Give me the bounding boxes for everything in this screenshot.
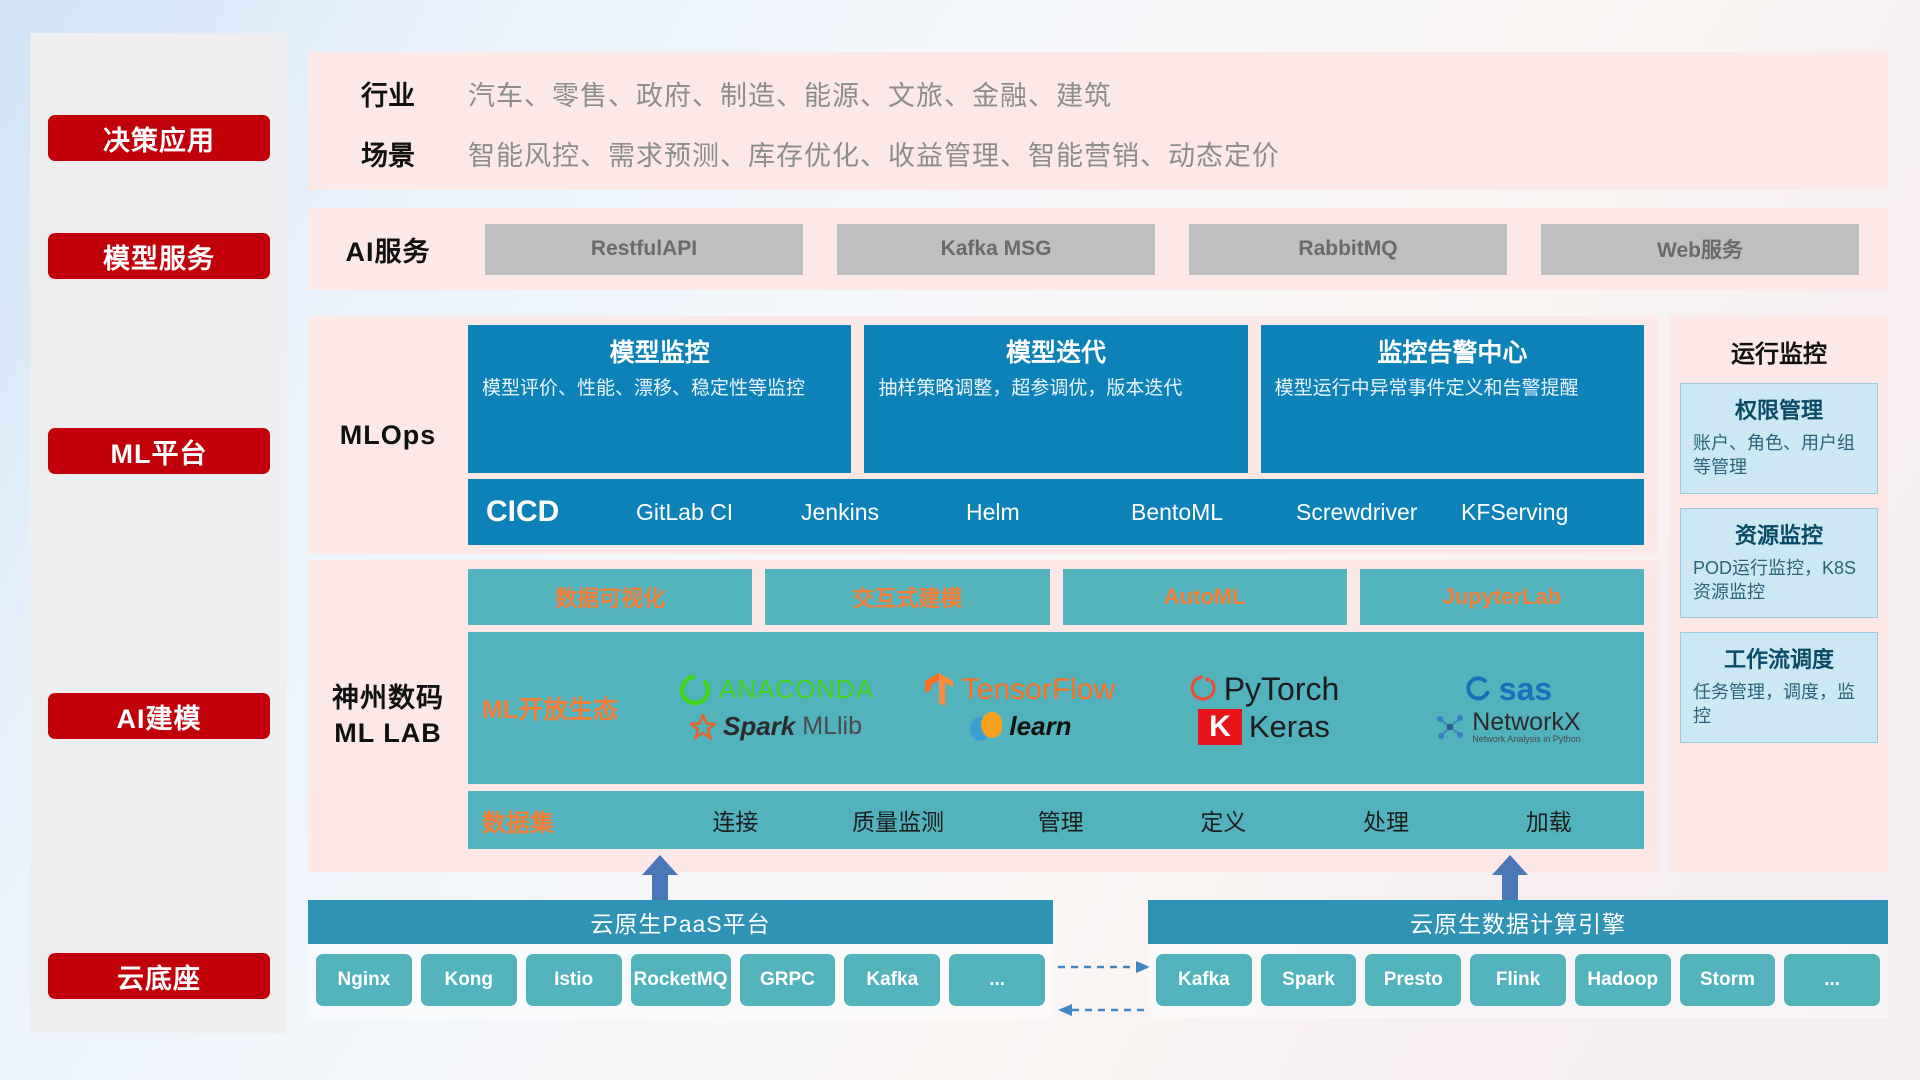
cloud-chip-nginx[interactable]: Nginx <box>316 954 412 1006</box>
cloud-chip-kong[interactable]: Kong <box>421 954 517 1006</box>
anaconda-ring-icon <box>678 673 712 707</box>
cloud-chip-storm[interactable]: Storm <box>1680 954 1776 1006</box>
cloud-chip-kafka[interactable]: Kafka <box>1156 954 1252 1006</box>
logo-text: sas <box>1499 671 1552 708</box>
monitor-card-permission[interactable]: 权限管理 账户、角色、用户组等管理 <box>1680 383 1878 494</box>
tier-pill-decision-app[interactable]: 决策应用 <box>48 115 270 161</box>
cloud-chip-istio[interactable]: Istio <box>526 954 622 1006</box>
dashed-arrow-left-icon <box>1058 1003 1150 1017</box>
ai-service-chip-kafka-msg[interactable]: Kafka MSG <box>837 224 1155 275</box>
mllab-label: 神州数码 ML LAB <box>308 560 468 872</box>
card-title: 监控告警中心 <box>1275 333 1630 369</box>
cicd-tool-screwdriver[interactable]: Screwdriver <box>1296 501 1461 524</box>
tier-pill-ai-modeling[interactable]: AI建模 <box>48 693 270 739</box>
ai-service-band: AI服务 RestfulAPI Kafka MSG RabbitMQ Web服务 <box>308 208 1888 290</box>
card-title: 资源监控 <box>1693 518 1865 550</box>
scenario-row-label: 场景 <box>308 134 468 173</box>
mllab-band: 神州数码 ML LAB 数据可视化 交互式建模 AutoML JupyterLa… <box>308 560 1658 872</box>
mlops-label: MLOps <box>308 316 468 554</box>
monitor-card-resource[interactable]: 资源监控 POD运行监控，K8S资源监控 <box>1680 508 1878 619</box>
ai-service-chip-list: RestfulAPI Kafka MSG RabbitMQ Web服务 <box>468 224 1888 275</box>
tensorflow-logo[interactable]: TensorFlow <box>898 672 1142 708</box>
keras-k-icon: K <box>1198 709 1242 745</box>
cloud-data-engine-block: 云原生数据计算引擎 Kafka Spark Presto Flink Hadoo… <box>1148 900 1888 1018</box>
tensorflow-mark-icon <box>925 672 955 708</box>
card-title: 模型监控 <box>482 333 837 369</box>
tier-label: 决策应用 <box>103 119 215 158</box>
dataset-action-process[interactable]: 处理 <box>1305 803 1468 837</box>
logo-text-mllib: MLlib <box>802 712 862 741</box>
dataset-action-connect[interactable]: 连接 <box>654 803 817 837</box>
sas-swirl-icon <box>1464 676 1492 704</box>
pytorch-flame-icon <box>1189 673 1217 707</box>
card-desc: 抽样策略调整，超参调优，版本迭代 <box>878 376 1233 402</box>
tier-pill-ml-platform[interactable]: ML平台 <box>48 428 270 474</box>
ecosystem-logo-grid: ANACONDA TensorFlow PyTorch <box>654 671 1630 745</box>
upward-arrow-data-engine-icon <box>1490 855 1530 901</box>
mllab-tool-automl[interactable]: AutoML <box>1063 569 1347 625</box>
dataset-action-define[interactable]: 定义 <box>1142 803 1305 837</box>
cicd-tool-gitlab-ci[interactable]: GitLab CI <box>636 501 801 524</box>
monitor-card-workflow[interactable]: 工作流调度 任务管理，调度，监控 <box>1680 632 1878 743</box>
dashed-arrow-right-icon <box>1058 960 1150 974</box>
card-desc: 模型评价、性能、漂移、稳定性等监控 <box>482 376 837 402</box>
card-title: 模型迭代 <box>878 333 1233 369</box>
scenario-row-value: 智能风控、需求预测、库存优化、收益管理、智能营销、动态定价 <box>468 134 1280 173</box>
logo-text-spark: Spark <box>723 711 795 742</box>
ml-open-ecosystem-label: ML开放生态 <box>482 690 654 726</box>
ai-service-chip-restfulapi[interactable]: RestfulAPI <box>485 224 803 275</box>
cloud-paas-title: 云原生PaaS平台 <box>308 900 1053 944</box>
mlops-content: 模型监控 模型评价、性能、漂移、稳定性等监控 模型迭代 抽样策略调整，超参调优，… <box>468 316 1658 554</box>
mllab-content: 数据可视化 交互式建模 AutoML JupyterLab ML开放生态 ANA… <box>468 560 1658 872</box>
cloud-chip-flink[interactable]: Flink <box>1470 954 1566 1006</box>
ai-service-chip-rabbitmq[interactable]: RabbitMQ <box>1189 224 1507 275</box>
cloud-data-engine-title: 云原生数据计算引擎 <box>1148 900 1888 944</box>
cloud-chip-presto[interactable]: Presto <box>1365 954 1461 1006</box>
card-desc: 账户、角色、用户组等管理 <box>1693 431 1865 480</box>
mllab-label-line1: 神州数码 <box>332 681 444 716</box>
dataset-action-quality-monitor[interactable]: 质量监测 <box>817 803 980 837</box>
card-title: 工作流调度 <box>1693 642 1865 674</box>
industry-row-value: 汽车、零售、政府、制造、能源、文旅、金融、建筑 <box>468 74 1112 113</box>
scikit-blob-icon <box>968 710 1002 744</box>
mllab-label-line2: ML LAB <box>332 716 444 751</box>
ml-open-ecosystem-row: ML开放生态 ANACONDA T <box>468 632 1644 784</box>
scenario-row: 场景 智能风控、需求预测、库存优化、收益管理、智能营销、动态定价 <box>308 128 1888 178</box>
tier-pill-model-service[interactable]: 模型服务 <box>48 233 270 279</box>
cloud-paas-chip-list: Nginx Kong Istio RocketMQ GRPC Kafka ... <box>308 944 1053 1018</box>
logo-text: NetworkX <box>1472 708 1580 736</box>
dataset-label: 数据集 <box>482 803 654 838</box>
cicd-tool-list: GitLab CI Jenkins Helm BentoML Screwdriv… <box>636 501 1626 524</box>
tier-label: AI建模 <box>117 697 202 736</box>
cloud-chip-hadoop[interactable]: Hadoop <box>1575 954 1671 1006</box>
cicd-label: CICD <box>486 495 636 529</box>
scikit-learn-logo[interactable]: learn <box>898 710 1142 744</box>
logo-text: TensorFlow <box>962 673 1115 707</box>
cloud-paas-block: 云原生PaaS平台 Nginx Kong Istio RocketMQ GRPC… <box>308 900 1053 1018</box>
cicd-tool-kfserving[interactable]: KFServing <box>1461 501 1626 524</box>
sas-logo[interactable]: sas <box>1386 671 1630 708</box>
mllab-tool-data-visualization[interactable]: 数据可视化 <box>468 569 752 625</box>
tier-label: 模型服务 <box>103 237 215 276</box>
cloud-chip-spark[interactable]: Spark <box>1261 954 1357 1006</box>
cicd-tool-jenkins[interactable]: Jenkins <box>801 501 966 524</box>
ai-service-label: AI服务 <box>308 230 468 269</box>
mlops-band: MLOps 模型监控 模型评价、性能、漂移、稳定性等监控 模型迭代 抽样策略调整… <box>308 316 1658 554</box>
dataset-row: 数据集 连接 质量监测 管理 定义 处理 加载 <box>468 791 1644 849</box>
tier-label: 云底座 <box>117 957 201 996</box>
cloud-chip-more[interactable]: ... <box>1784 954 1880 1006</box>
mllab-tool-list: 数据可视化 交互式建模 AutoML JupyterLab <box>468 569 1644 625</box>
tier-pill-cloud-foundation[interactable]: 云底座 <box>48 953 270 999</box>
logo-text: ANACONDA <box>719 674 874 705</box>
mlops-card-alert-center[interactable]: 监控告警中心 模型运行中异常事件定义和告警提醒 <box>1261 325 1644 473</box>
dataset-action-manage[interactable]: 管理 <box>979 803 1142 837</box>
tier-rail: 决策应用 模型服务 ML平台 AI建模 云底座 <box>30 33 287 1033</box>
mlops-card-list: 模型监控 模型评价、性能、漂移、稳定性等监控 模型迭代 抽样策略调整，超参调优，… <box>468 325 1644 473</box>
mllab-tool-jupyterlab[interactable]: JupyterLab <box>1360 569 1644 625</box>
industry-scenario-band: 行业 汽车、零售、政府、制造、能源、文旅、金融、建筑 场景 智能风控、需求预测、… <box>308 52 1888 190</box>
tier-label: ML平台 <box>111 432 208 471</box>
upward-arrow-paas-icon <box>640 855 680 901</box>
card-desc: 模型运行中异常事件定义和告警提醒 <box>1275 376 1630 402</box>
logo-text: learn <box>1009 711 1071 742</box>
card-title: 权限管理 <box>1693 393 1865 425</box>
spark-mllib-logo[interactable]: Spark MLlib <box>654 711 898 742</box>
runtime-monitor-column: 运行监控 权限管理 账户、角色、用户组等管理 资源监控 POD运行监控，K8S资… <box>1670 316 1888 872</box>
card-desc: 任务管理，调度，监控 <box>1693 680 1865 729</box>
dataset-action-list: 连接 质量监测 管理 定义 处理 加载 <box>654 803 1630 837</box>
logo-text: PyTorch <box>1224 671 1340 708</box>
card-desc: POD运行监控，K8S资源监控 <box>1693 556 1865 605</box>
pytorch-logo[interactable]: PyTorch <box>1142 671 1386 708</box>
mlops-card-model-iteration[interactable]: 模型迭代 抽样策略调整，超参调优，版本迭代 <box>864 325 1247 473</box>
dataset-action-load[interactable]: 加载 <box>1467 803 1630 837</box>
runtime-monitor-title: 运行监控 <box>1680 324 1878 383</box>
spark-star-icon <box>690 714 716 740</box>
logo-text: Keras <box>1249 709 1330 745</box>
cloud-chip-grpc[interactable]: GRPC <box>740 954 836 1006</box>
cloud-chip-rocketmq[interactable]: RocketMQ <box>631 954 731 1006</box>
anaconda-logo[interactable]: ANACONDA <box>654 673 898 707</box>
cicd-tool-helm[interactable]: Helm <box>966 501 1131 524</box>
networkx-tagline: Network Analysis in Python <box>1472 735 1581 744</box>
industry-row: 行业 汽车、零售、政府、制造、能源、文旅、金融、建筑 <box>308 68 1888 118</box>
networkx-logo[interactable]: NetworkX Network Analysis in Python <box>1386 710 1630 744</box>
industry-row-label: 行业 <box>308 74 468 113</box>
mlops-card-model-monitoring[interactable]: 模型监控 模型评价、性能、漂移、稳定性等监控 <box>468 325 851 473</box>
cloud-chip-more[interactable]: ... <box>949 954 1045 1006</box>
cloud-chip-kafka[interactable]: Kafka <box>844 954 940 1006</box>
networkx-graph-icon <box>1435 712 1465 742</box>
ai-service-chip-web-service[interactable]: Web服务 <box>1541 224 1859 275</box>
cloud-data-engine-chip-list: Kafka Spark Presto Flink Hadoop Storm ..… <box>1148 944 1888 1018</box>
mllab-tool-interactive-modeling[interactable]: 交互式建模 <box>765 569 1049 625</box>
cicd-tool-bentoml[interactable]: BentoML <box>1131 501 1296 524</box>
cicd-bar: CICD GitLab CI Jenkins Helm BentoML Scre… <box>468 479 1644 545</box>
keras-logo[interactable]: K Keras <box>1142 709 1386 745</box>
